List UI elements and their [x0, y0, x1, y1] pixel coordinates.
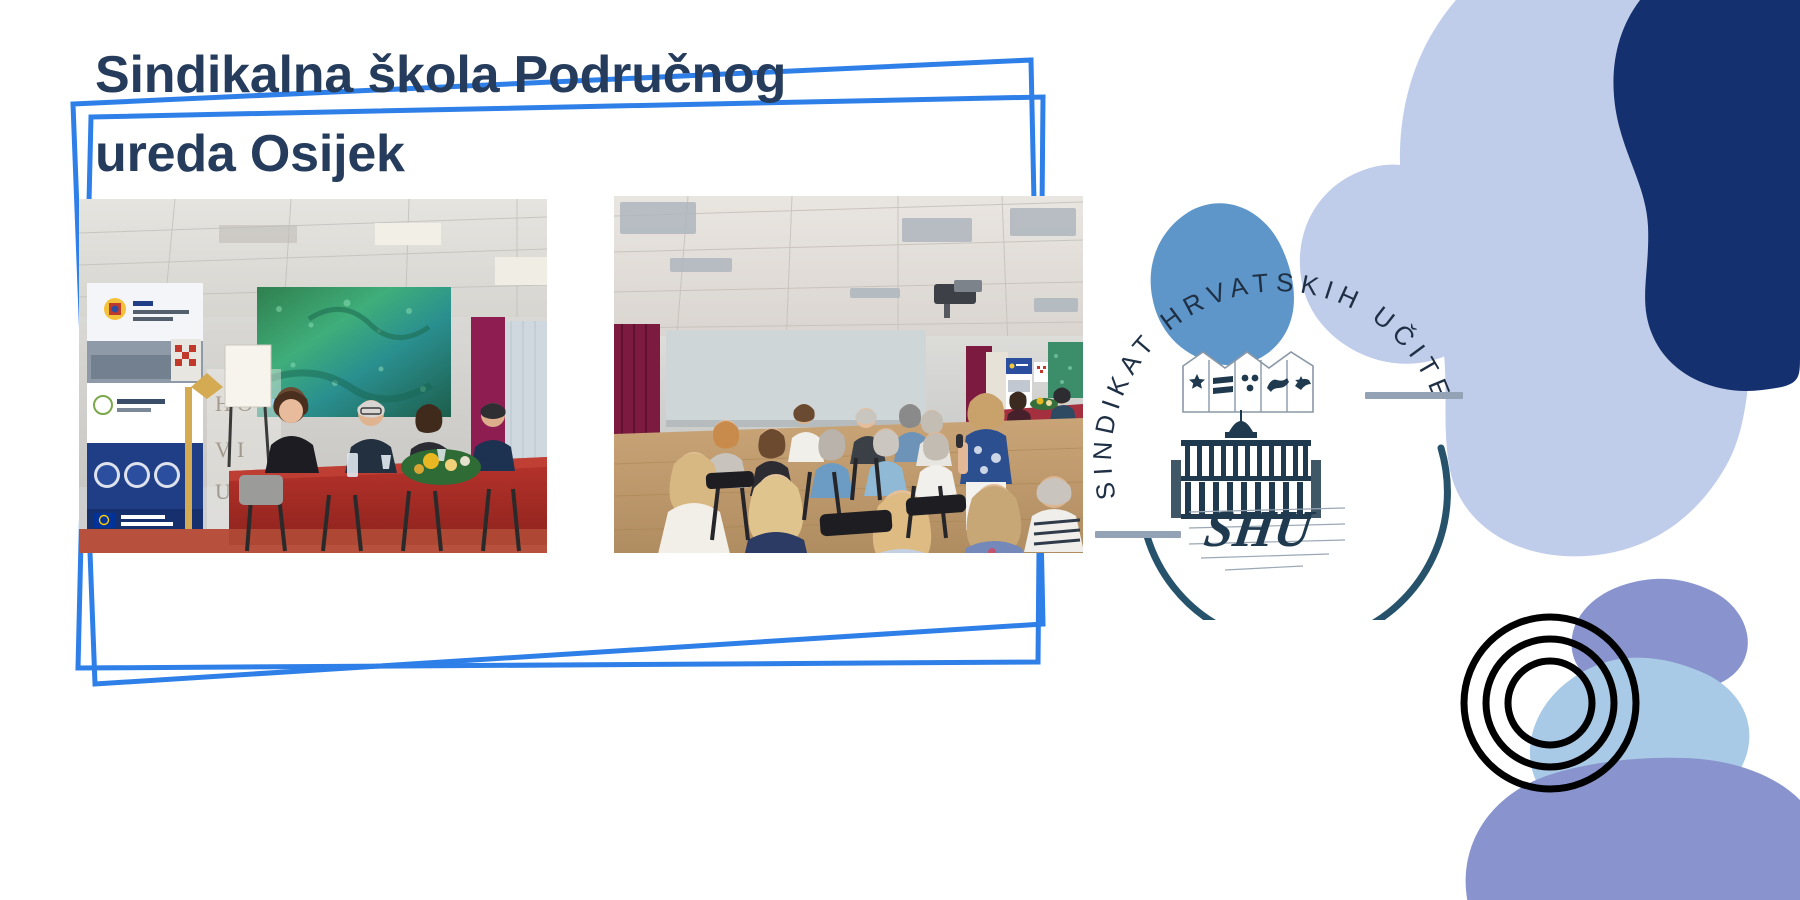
spiral-icon: [1455, 608, 1645, 798]
logo-dash-right: [1365, 392, 1463, 399]
page-title: Sindikalna škola Područnog ureda Osijek: [95, 36, 935, 194]
photo-audience: [614, 196, 1083, 553]
photo-panel-illustration: H O V I U Z: [79, 199, 547, 553]
concentric-circles-decoration: [1455, 608, 1645, 798]
logo-dash-left: [1095, 531, 1181, 538]
eu-flag-mark: [93, 513, 115, 528]
esf-logo-mark: [104, 298, 126, 320]
slide-canvas: Sindikalna škola Područnog ureda Osijek: [0, 0, 1800, 900]
blob-navy-icon: [1613, 0, 1800, 391]
shu-logo: SINDIKAT HRVATSKIH UČITELJA: [1085, 240, 1465, 620]
crown-coat-of-arms: [1183, 352, 1313, 412]
svg-text:U: U: [215, 479, 231, 504]
svg-text:I: I: [237, 437, 244, 462]
photo-panel-discussion: H O V I U Z: [79, 199, 547, 553]
shu-monogram: SHU: [1189, 500, 1345, 570]
photo-audience-illustration: [614, 196, 1083, 553]
svg-text:SHU: SHU: [1201, 500, 1318, 558]
shu-logo-svg: SINDIKAT HRVATSKIH UČITELJA: [1085, 240, 1465, 620]
